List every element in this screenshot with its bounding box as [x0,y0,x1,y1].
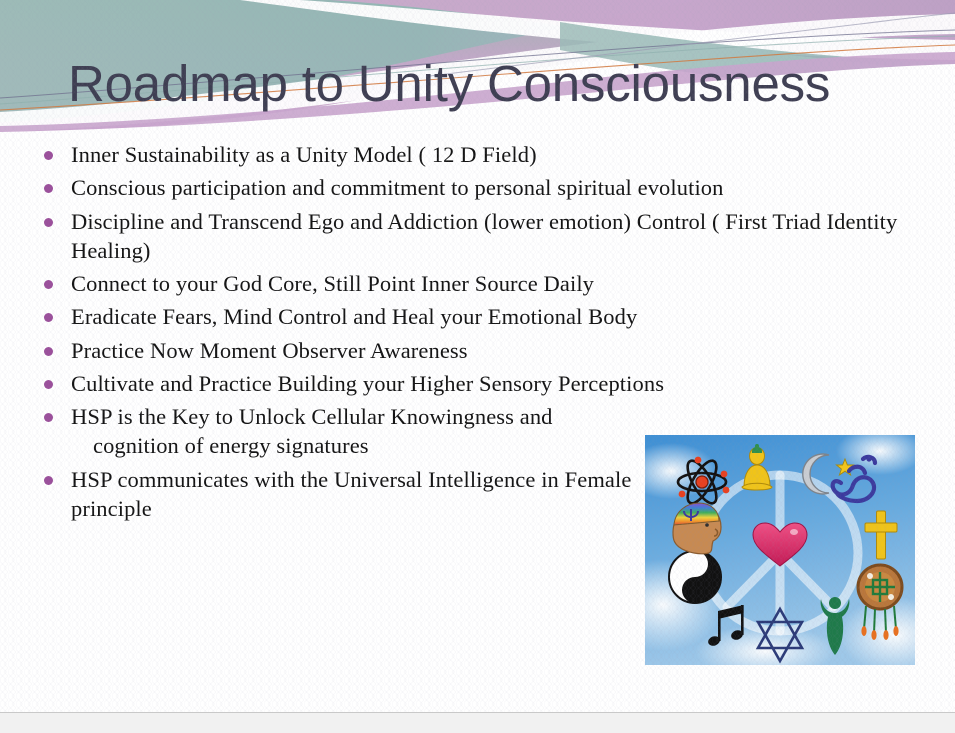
bullet-dot-icon [44,413,53,422]
list-item-text: Connect to your God Core, Still Point In… [71,269,924,298]
bullet-dot-icon [44,476,53,485]
list-item: Conscious participation and commitment t… [34,173,924,202]
list-item-text: Discipline and Transcend Ego and Addicti… [71,207,924,266]
list-item-text: Practice Now Moment Observer Awareness [71,336,924,365]
list-item: Discipline and Transcend Ego and Addicti… [34,207,924,266]
unity-symbols-image [645,435,915,665]
list-item: Connect to your God Core, Still Point In… [34,269,924,298]
list-item: Inner Sustainability as a Unity Model ( … [34,140,924,169]
slide-canvas: Roadmap to Unity Consciousness Inner Sus… [0,0,955,713]
bullet-dot-icon [44,313,53,322]
list-item: Eradicate Fears, Mind Control and Heal y… [34,302,924,331]
slide-title: Roadmap to Unity Consciousness [68,56,830,111]
list-item-line-1: HSP is the Key to Unlock Cellular Knowin… [71,404,553,429]
list-item: Practice Now Moment Observer Awareness [34,336,924,365]
bullet-dot-icon [44,380,53,389]
list-item-line-2: cognition of energy signatures [71,431,671,460]
list-item-text: HSP communicates with the Universal Inte… [71,465,671,524]
bullet-dot-icon [44,184,53,193]
list-item-text: Inner Sustainability as a Unity Model ( … [71,140,924,169]
list-item-text: Conscious participation and commitment t… [71,173,924,202]
bullet-dot-icon [44,151,53,160]
bullet-dot-icon [44,347,53,356]
list-item-text: Cultivate and Practice Building your Hig… [71,369,924,398]
yin-yang-symbol [669,551,721,603]
page-bottom-strip [0,713,955,733]
list-item: Cultivate and Practice Building your Hig… [34,369,924,398]
bullet-dot-icon [44,218,53,227]
list-item-text: HSP is the Key to Unlock Cellular Knowin… [71,402,671,461]
list-item-text: Eradicate Fears, Mind Control and Heal y… [71,302,924,331]
bullet-dot-icon [44,280,53,289]
